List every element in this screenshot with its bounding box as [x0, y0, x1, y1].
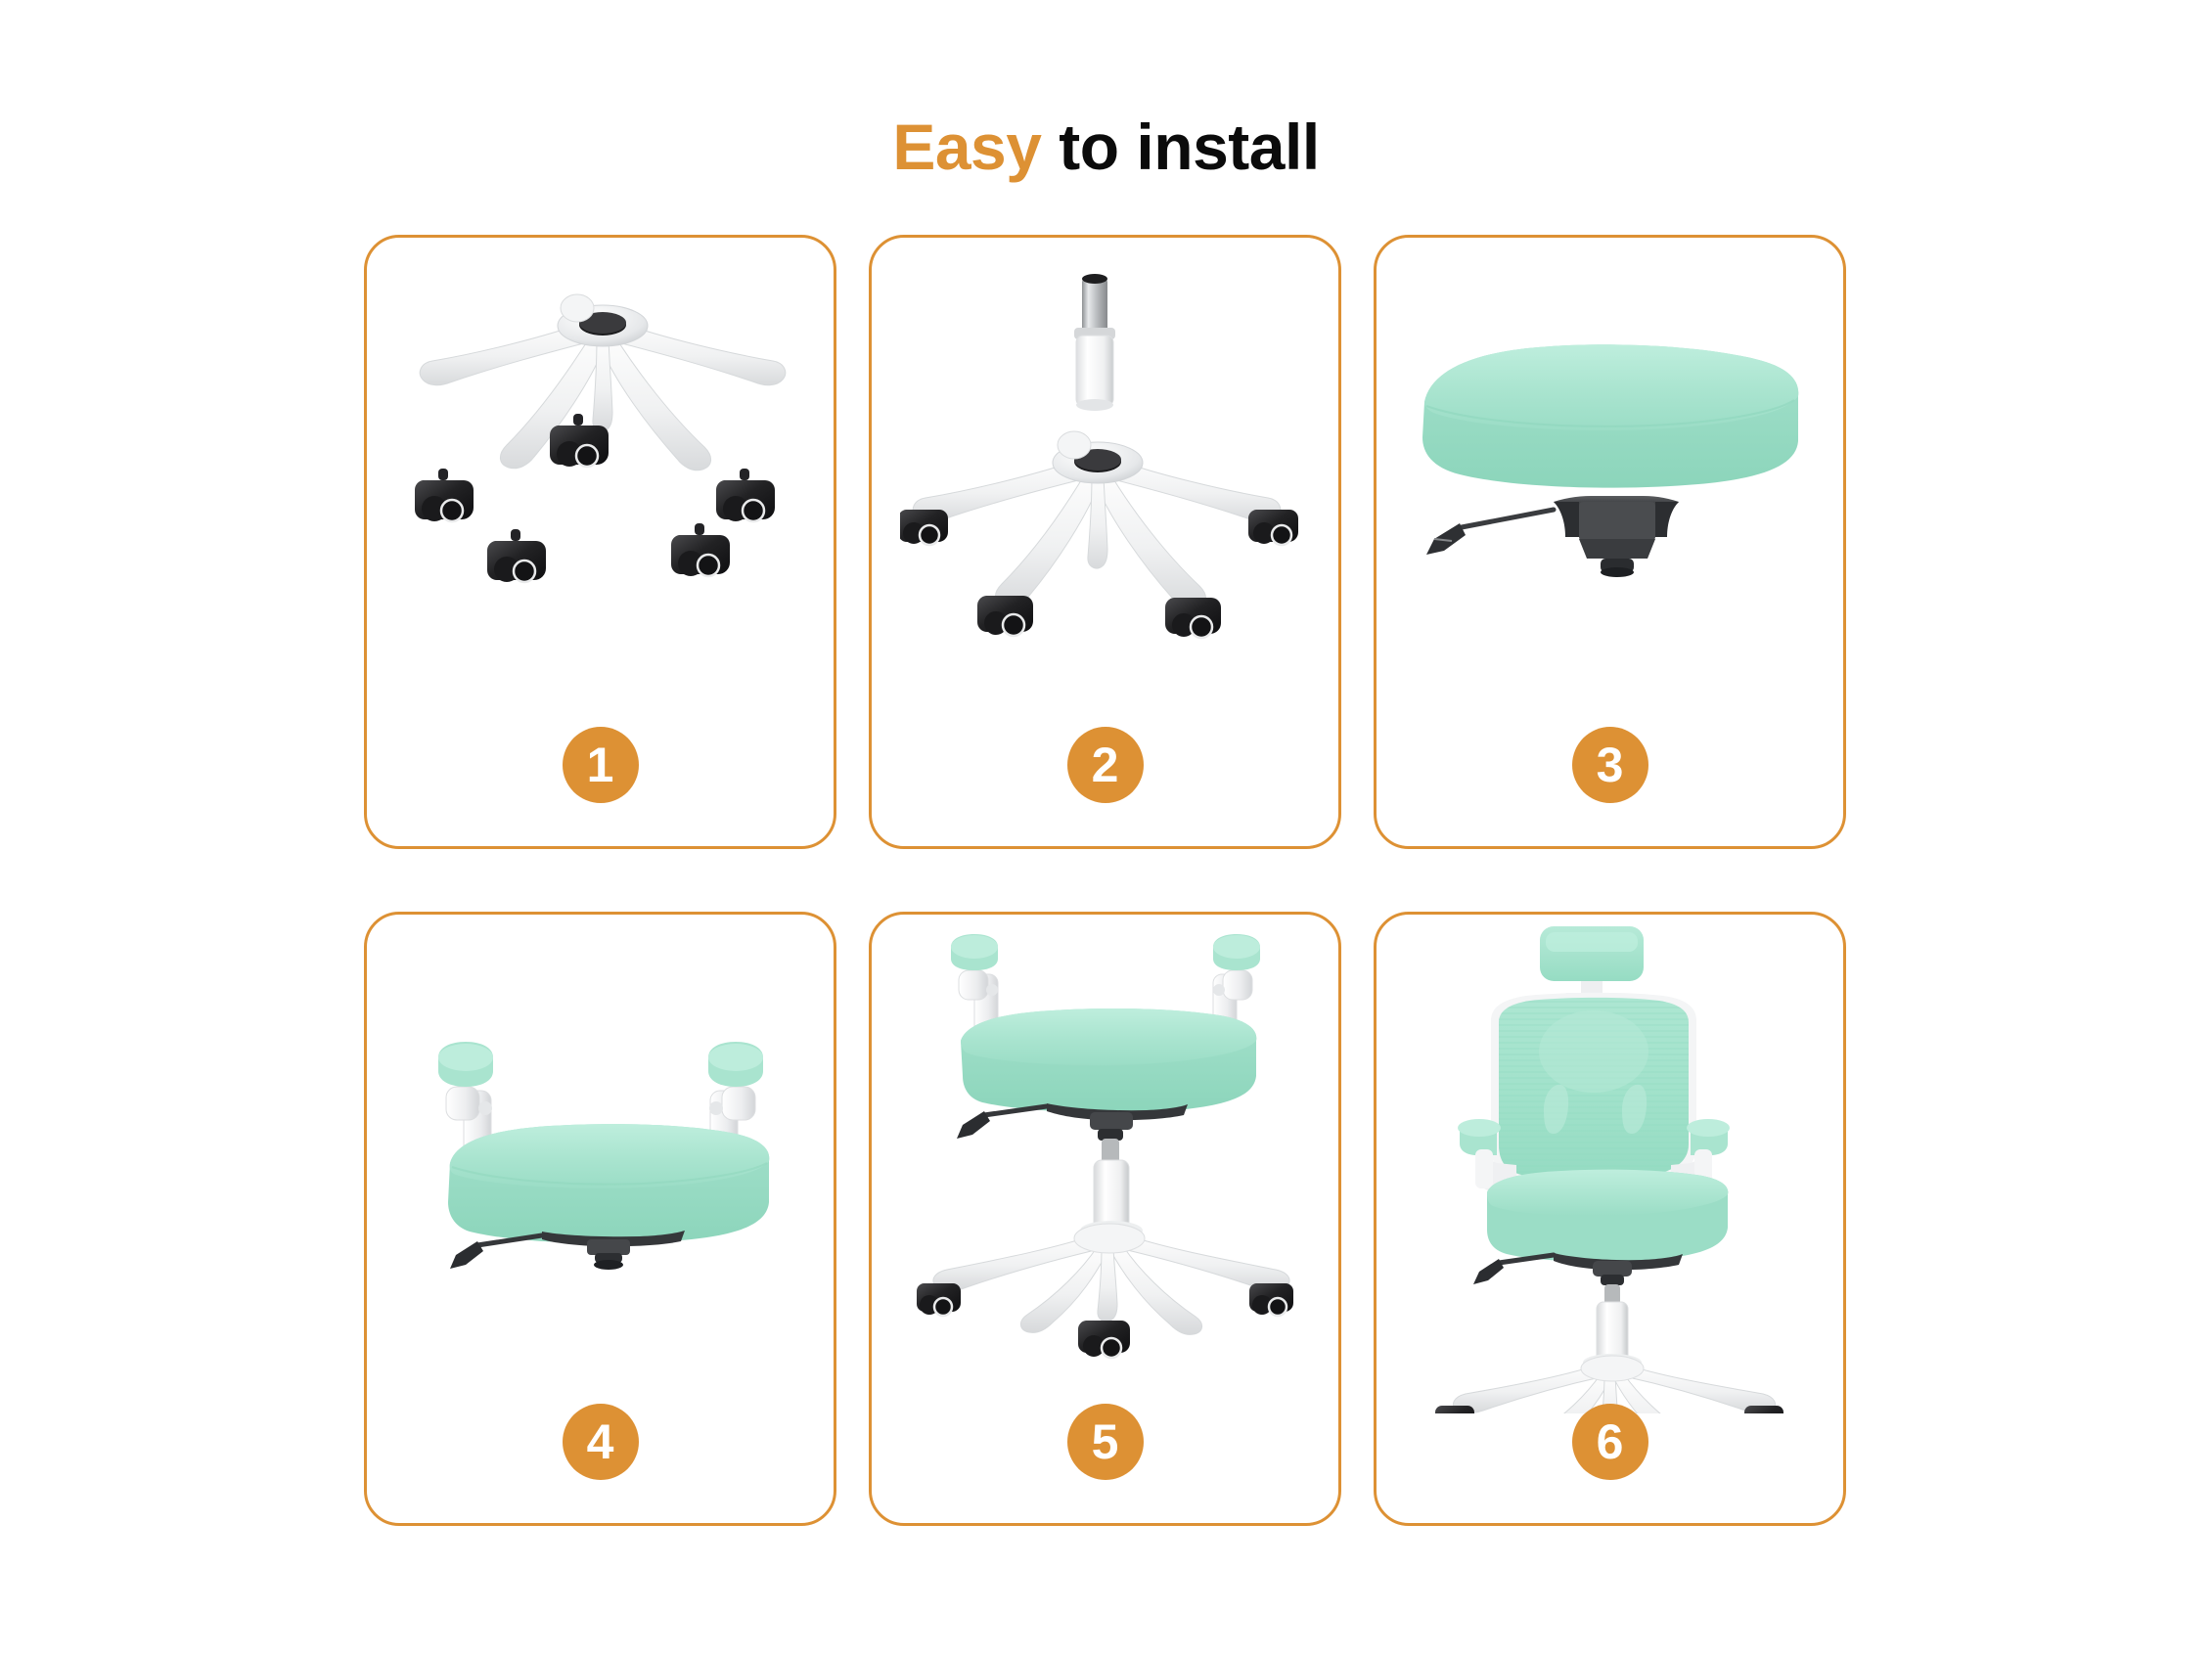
caster-wheel-left	[900, 510, 948, 545]
seat-cushion	[1422, 344, 1798, 487]
install-guide-page: Easy to install	[0, 0, 2212, 1658]
step-3-illustration	[1377, 238, 1843, 688]
headrest	[1540, 926, 1644, 1003]
tilt-mechanism	[1554, 496, 1679, 577]
caster-wheel-front-left	[486, 529, 545, 582]
five-star-base-with-casters	[916, 1224, 1292, 1358]
caster-wheel-left	[414, 469, 473, 521]
step-number-badge: 1	[563, 727, 639, 803]
caster-wheel-front-left	[976, 596, 1032, 636]
caster-wheel-front	[1077, 1321, 1129, 1358]
caster-wheel-right	[715, 469, 774, 521]
seat-onto-base-svg	[900, 919, 1311, 1360]
five-star-base-with-casters	[900, 431, 1298, 638]
step-card-1[interactable]: 1	[364, 235, 836, 849]
step-card-3[interactable]: 3	[1374, 235, 1846, 849]
caster-wheel-left	[1435, 1406, 1474, 1413]
step-card-6[interactable]: 6	[1374, 912, 1846, 1526]
page-title-rest: to install	[1041, 111, 1319, 183]
caster-wheel-left	[916, 1283, 960, 1316]
step-1-illustration	[367, 238, 834, 688]
seat-and-mechanism-svg	[1405, 316, 1816, 609]
base-and-casters-svg	[395, 277, 806, 649]
step-number-badge: 2	[1067, 727, 1144, 803]
gas-lift-cylinder	[1074, 274, 1115, 411]
seat-cushion	[448, 1124, 769, 1243]
caster-wheel-right	[1248, 1283, 1292, 1316]
tilt-lever	[1426, 510, 1554, 555]
step-4-illustration	[367, 915, 834, 1365]
step-card-2[interactable]: 2	[869, 235, 1341, 849]
step-card-5[interactable]: 5	[869, 912, 1341, 1526]
seat-cushion	[961, 1008, 1256, 1112]
step-number-badge: 6	[1572, 1404, 1648, 1480]
caster-wheel-front-right	[670, 523, 729, 576]
step-card-4[interactable]: 4	[364, 912, 836, 1526]
steps-grid: 1	[364, 235, 1846, 1526]
page-title-highlight: Easy	[892, 111, 1041, 183]
tilt-mechanism	[450, 1231, 685, 1270]
step-6-illustration	[1377, 912, 1843, 1413]
seat-cushion	[1487, 1170, 1728, 1262]
armrests-onto-seat-svg	[395, 993, 806, 1286]
gas-cylinder-onto-base-svg	[900, 267, 1311, 658]
complete-chair-svg	[1415, 912, 1806, 1413]
caster-wheel-right	[1248, 510, 1298, 545]
caster-wheel-front-right	[1164, 598, 1220, 638]
step-2-illustration	[872, 238, 1338, 688]
step-5-illustration	[872, 915, 1338, 1365]
step-number-badge: 4	[563, 1404, 639, 1480]
page-title: Easy to install	[0, 110, 2212, 184]
mesh-backrest	[1491, 993, 1696, 1187]
caster-wheel-right	[1744, 1406, 1783, 1413]
step-number-badge: 5	[1067, 1404, 1144, 1480]
step-number-badge: 3	[1572, 727, 1648, 803]
